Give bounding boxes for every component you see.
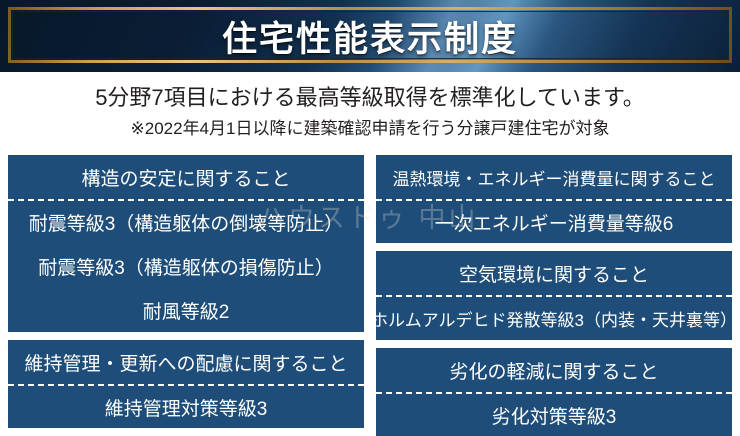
subtitle-main-text: 5分野7項目における最高等級取得を標準化しています。: [95, 84, 645, 112]
category-item: 一次エネルギー消費量等級6: [376, 199, 732, 243]
category-item: 耐風等級2: [8, 288, 364, 332]
category-group: 維持管理・更新への配慮に関すること 維持管理対策等級3: [8, 340, 364, 428]
category-heading: 維持管理・更新への配慮に関すること: [8, 340, 364, 384]
subtitle-block: 5分野7項目における最高等級取得を標準化しています。 ※2022年4月1日以降に…: [0, 72, 740, 152]
category-group: 空気環境に関すること ホルムアルデヒド発散等級3（内装・天井裏等）: [376, 251, 732, 340]
category-item: 耐震等級3（構造躯体の損傷防止）: [8, 244, 364, 288]
subtitle-note-text: ※2022年4月1日以降に建築確認申請を行う分譲戸建住宅が対象: [131, 118, 610, 140]
category-group: 構造の安定に関すること 耐震等級3（構造躯体の倒壊等防止） 耐震等級3（構造躯体…: [8, 155, 364, 332]
category-item: ホルムアルデヒド発散等級3（内装・天井裏等）: [376, 295, 732, 340]
table-column-left: 構造の安定に関すること 耐震等級3（構造躯体の倒壊等防止） 耐震等級3（構造躯体…: [8, 155, 364, 428]
category-heading: 構造の安定に関すること: [8, 155, 364, 199]
category-item: 耐震等級3（構造躯体の倒壊等防止）: [8, 199, 364, 244]
category-heading: 劣化の軽減に関すること: [376, 348, 732, 392]
header-banner: 住宅性能表示制度: [0, 0, 740, 72]
performance-table: 構造の安定に関すること 耐震等級3（構造躯体の倒壊等防止） 耐震等級3（構造躯体…: [8, 155, 732, 428]
table-column-right: 温熱環境・エネルギー消費量に関すること 一次エネルギー消費量等級6 空気環境に関…: [376, 155, 732, 428]
category-item: 維持管理対策等級3: [8, 384, 364, 428]
page-title: 住宅性能表示制度: [0, 0, 740, 72]
category-item: 劣化対策等級3: [376, 392, 732, 436]
category-heading: 温熱環境・エネルギー消費量に関すること: [376, 155, 732, 199]
category-group: 温熱環境・エネルギー消費量に関すること 一次エネルギー消費量等級6: [376, 155, 732, 243]
category-heading: 空気環境に関すること: [376, 251, 732, 295]
category-group: 劣化の軽減に関すること 劣化対策等級3: [376, 348, 732, 436]
